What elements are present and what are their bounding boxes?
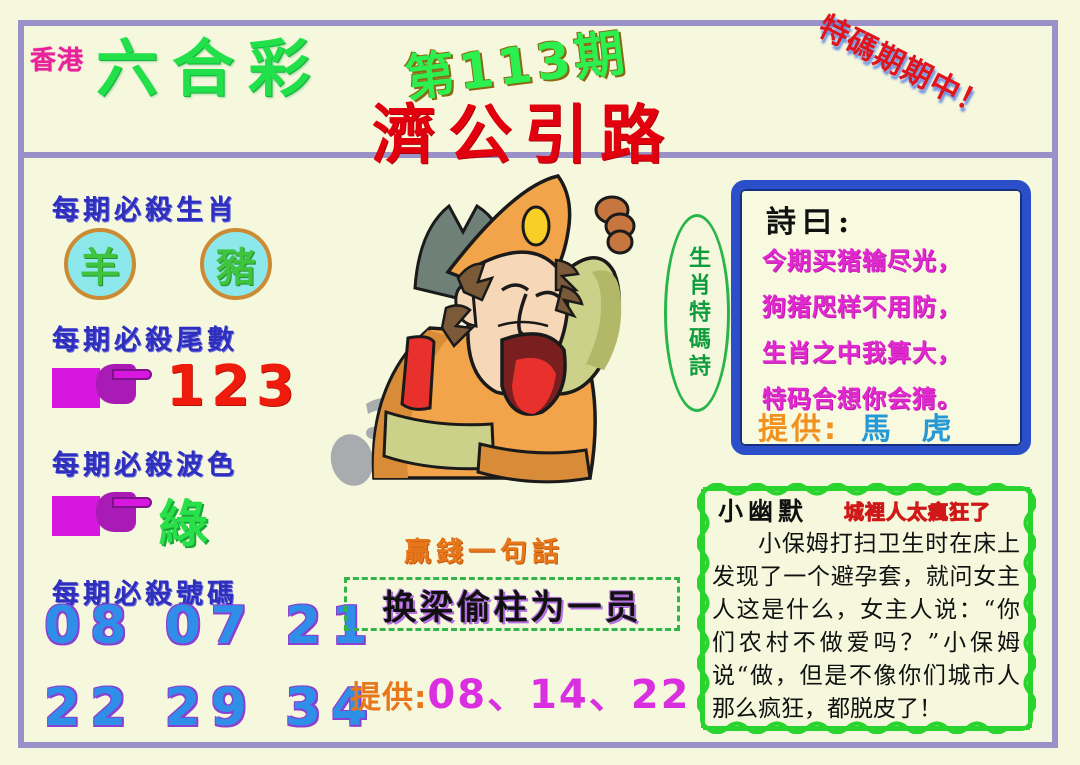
center-supply-label: 提供: [350,680,427,716]
hand-finger [112,497,152,508]
poster-page: 香港 六合彩 第113期 濟公引路 特碼期期中！ 每期必殺生肖 羊 豬 每期必殺… [0,0,1080,765]
tail-kill-label: 每期必殺尾數 [52,318,238,357]
lottery-name: 六合彩 [96,18,324,108]
poem-credit: 提供:馬 虎 [758,404,961,448]
zodiac-kill-label: 每期必殺生肖 [52,188,238,227]
zodiac-circle-2: 豬 [200,228,272,300]
hand-finger [112,369,152,380]
pointing-hand-icon-2 [52,492,148,538]
ji-gong-monk-cartoon [330,168,660,498]
win-phrase-box: 换梁偷柱为一员 [344,577,680,631]
win-phrase-value: 换梁偷柱为一员 [383,580,642,629]
joke-banner: 城裡人太瘋狂了 [844,496,991,525]
center-supply-numbers: 08、14、22 [427,672,690,718]
poem-heading: 詩曰: [766,197,855,241]
pointing-hand-icon [52,364,148,410]
poem-credit-name: 馬 虎 [861,412,961,447]
color-kill-value: 綠 [158,484,208,556]
poem-box: 詩曰: 今期买猪输尽光， 狗猪咫样不用防， 生肖之中我算大， 特码合想你会猜。 … [731,180,1031,455]
joke-box: 小幽默 城裡人太瘋狂了 小保姆打扫卫生时在床上发现了一个避孕套，就问女主人这是什… [700,486,1033,731]
poem-line-1: 今期买猪输尽光， [762,241,1012,276]
page-title: 濟公引路 [372,84,676,176]
hand-cuff [52,496,100,536]
zodiac-kill-circles: 羊 豬 [60,228,310,306]
number-kill-row-1: 08 07 21 [44,596,377,656]
hand-cuff [52,368,100,408]
joke-title: 小幽默 [718,492,808,528]
zodiac-circle-1: 羊 [64,228,136,300]
zodiac-poem-oval: 生肖特碼詩 [664,214,730,412]
win-phrase-title: 贏錢一句話 [404,530,564,569]
number-kill-row-2: 22 29 34 [44,678,377,738]
poem-line-3: 生肖之中我算大， [762,333,1012,368]
color-kill-label: 每期必殺波色 [52,443,238,482]
center-supply-row: 提供:08、14、22 [350,662,690,720]
joke-body: 小保姆打扫卫生时在床上发现了一个避孕套，就问女主人这是什么，女主人说：“你们农村… [712,528,1020,726]
zodiac-poem-oval-label: 生肖特碼詩 [681,246,713,381]
poem-lines: 今期买猪输尽光， 狗猪咫样不用防， 生肖之中我算大， 特码合想你会猜。 [762,241,1012,425]
poem-line-2: 狗猪咫样不用防， [762,287,1012,322]
tail-kill-value: 123 [166,354,301,419]
region-label: 香港 [30,40,84,77]
poem-credit-label: 提供: [758,412,839,447]
